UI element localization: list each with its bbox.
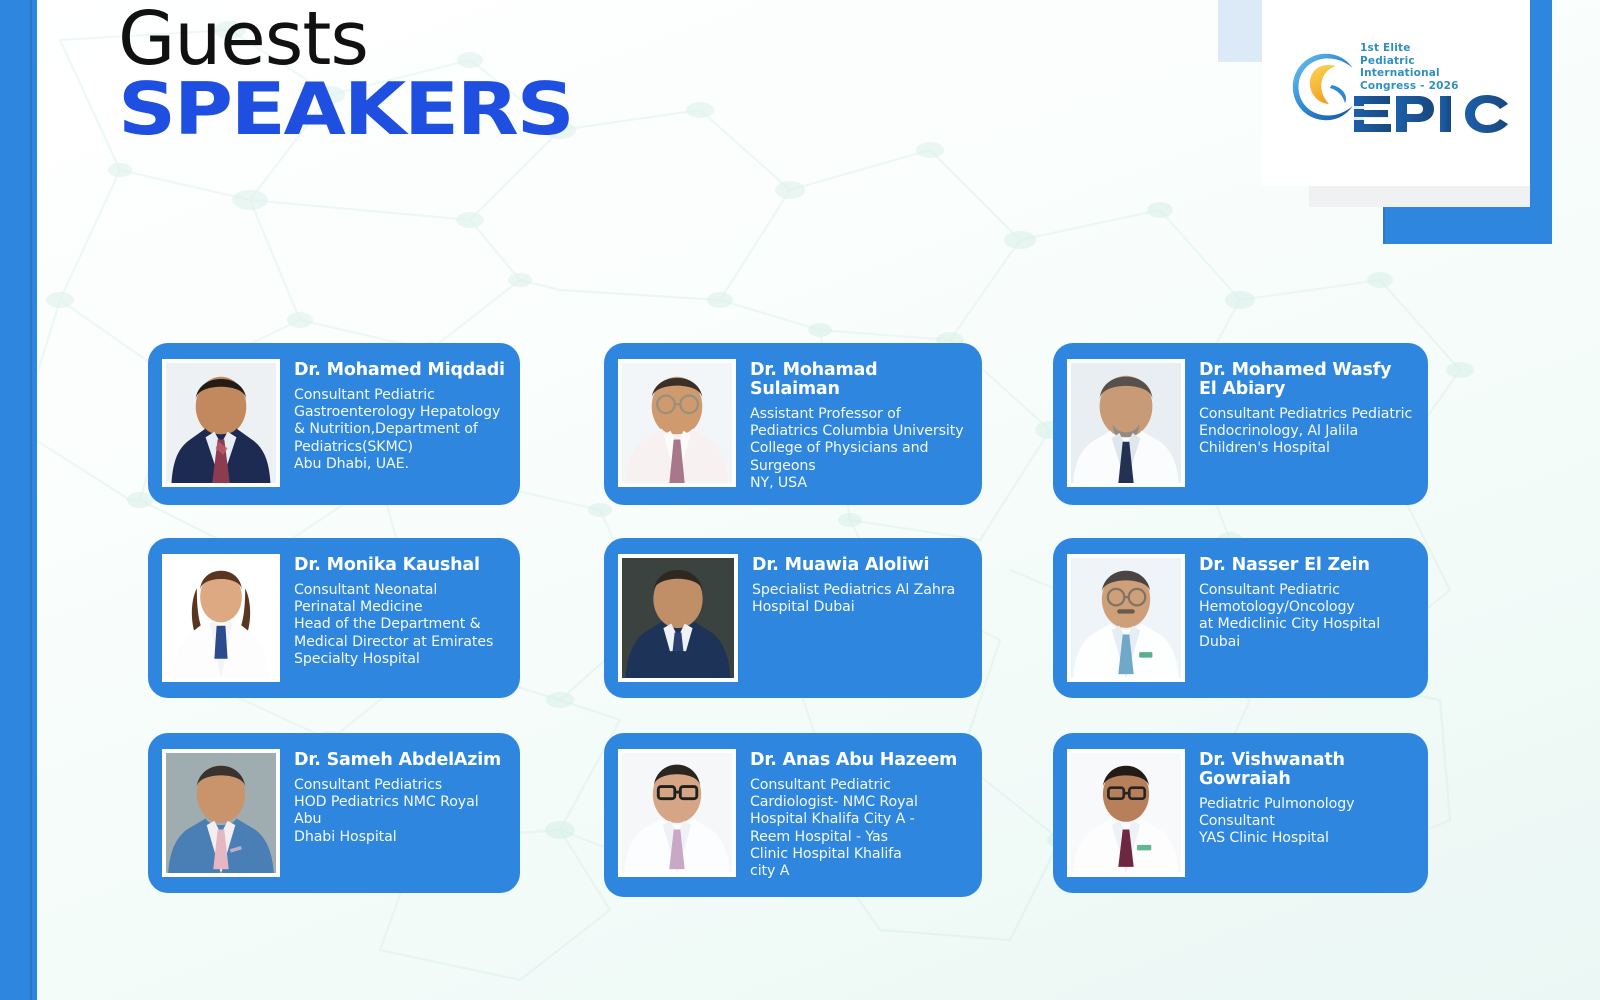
speaker-photo (618, 359, 736, 487)
speaker-card[interactable]: Dr. Anas Abu Hazeem Consultant Pediatric… (604, 733, 982, 897)
speaker-info: Dr. Mohamed Miqdadi Consultant Pediatric… (280, 359, 506, 473)
speaker-name: Dr. Mohamed Miqdadi (294, 361, 506, 380)
speaker-info: Dr. Mohamed Wasfy El Abiary Consultant P… (1185, 359, 1414, 458)
speaker-info: Dr. Anas Abu Hazeem Consultant Pediatric… (736, 749, 968, 880)
speaker-card[interactable]: Dr. Monika Kaushal Consultant Neonatal P… (148, 538, 520, 698)
speaker-name: Dr. Nasser El Zein (1199, 556, 1414, 575)
slide-canvas: 1st Elite Pediatric International Congre… (0, 0, 1600, 1000)
speaker-photo (162, 359, 280, 487)
speaker-photo (1067, 554, 1185, 682)
speaker-name: Dr. Mohamed Wasfy El Abiary (1199, 361, 1414, 399)
speaker-name: Dr. Muawia Aloliwi (752, 556, 968, 575)
speaker-photo (1067, 749, 1185, 877)
speaker-role: Consultant Pediatrics HOD Pediatrics NMC… (294, 777, 506, 846)
speaker-card[interactable]: Dr. Mohamed Wasfy El Abiary Consultant P… (1053, 343, 1428, 505)
speaker-card[interactable]: Dr. Mohamad Sulaiman Assistant Professor… (604, 343, 982, 505)
speaker-photo (162, 554, 280, 682)
speaker-photo (618, 554, 738, 682)
speaker-info: Dr. Vishwanath Gowraiah Pediatric Pulmon… (1185, 749, 1414, 848)
speaker-name: Dr. Mohamad Sulaiman (750, 361, 968, 399)
speaker-role: Specialist Pediatrics Al Zahra Hospital … (752, 582, 968, 616)
speaker-card[interactable]: Dr. Nasser El Zein Consultant Pediatric … (1053, 538, 1428, 698)
speaker-card[interactable]: Dr. Mohamed Miqdadi Consultant Pediatric… (148, 343, 520, 505)
speaker-name: Dr. Monika Kaushal (294, 556, 506, 575)
speaker-role: Consultant Pediatrics Pediatric Endocrin… (1199, 406, 1414, 458)
speaker-role: Consultant Pediatric Cardiologist- NMC R… (750, 777, 968, 880)
speaker-info: Dr. Mohamad Sulaiman Assistant Professor… (736, 359, 968, 492)
speaker-role: Consultant Pediatric Hemotology/Oncology… (1199, 582, 1414, 651)
speaker-info: Dr. Sameh AbdelAzim Consultant Pediatric… (280, 749, 506, 846)
speaker-role: Pediatric Pulmonology Consultant YAS Cli… (1199, 796, 1414, 848)
speaker-photo (162, 749, 280, 877)
speaker-info: Dr. Monika Kaushal Consultant Neonatal P… (280, 554, 506, 668)
speaker-role: Assistant Professor of Pediatrics Columb… (750, 406, 968, 492)
speaker-name: Dr. Sameh AbdelAzim (294, 751, 506, 770)
speaker-role: Consultant Neonatal Perinatal Medicine H… (294, 582, 506, 668)
speaker-name: Dr. Anas Abu Hazeem (750, 751, 968, 770)
speaker-role: Consultant Pediatric Gastroenterology He… (294, 387, 506, 473)
speaker-card[interactable]: Dr. Vishwanath Gowraiah Pediatric Pulmon… (1053, 733, 1428, 893)
speaker-photo (618, 749, 736, 877)
speakers-grid: Dr. Mohamed Miqdadi Consultant Pediatric… (0, 0, 1600, 1000)
speaker-info: Dr. Muawia Aloliwi Specialist Pediatrics… (738, 554, 968, 616)
speaker-card[interactable]: Dr. Muawia Aloliwi Specialist Pediatrics… (604, 538, 982, 698)
speaker-photo (1067, 359, 1185, 487)
speaker-card[interactable]: Dr. Sameh AbdelAzim Consultant Pediatric… (148, 733, 520, 893)
speaker-name: Dr. Vishwanath Gowraiah (1199, 751, 1414, 789)
speaker-info: Dr. Nasser El Zein Consultant Pediatric … (1185, 554, 1414, 651)
